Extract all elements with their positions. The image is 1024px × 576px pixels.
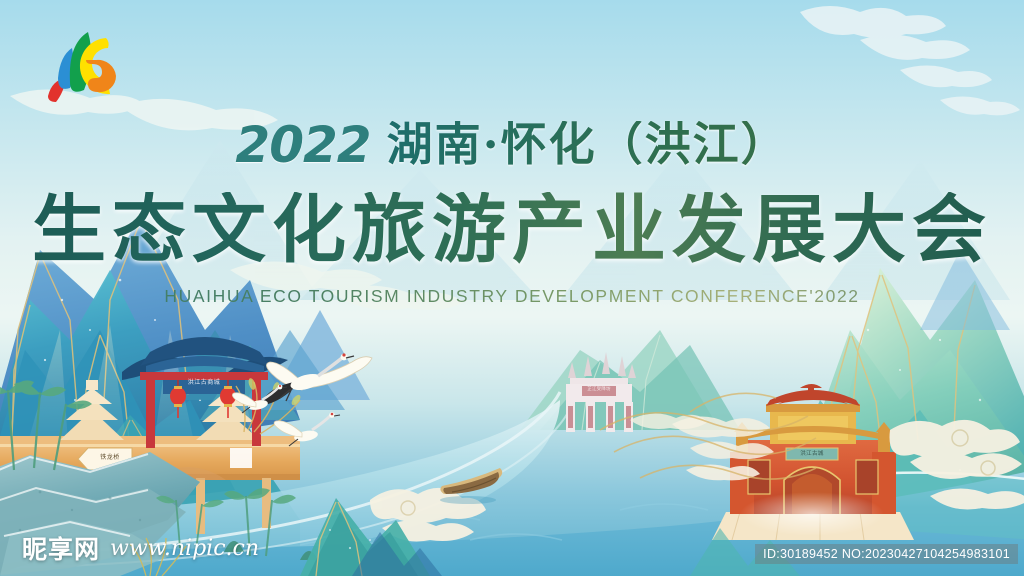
title-block: 2022 湖南·怀化（洪江） 生态文化旅游产业发展大会 HUAIHUA ECO …	[0, 118, 1024, 307]
gate-plaque-text: 洪江古商城	[167, 377, 241, 386]
watermark-site-name: 昵享网	[22, 530, 100, 566]
image-id-badge: ID:30189452 NO:20230427104254983101	[755, 544, 1018, 564]
conference-poster: 2022 湖南·怀化（洪江） 生态文化旅游产业发展大会 HUAIHUA ECO …	[0, 0, 1024, 576]
locale-label: 湖南·怀化（洪江）	[387, 121, 789, 167]
watermark: 昵享网 www.nipic.cn	[22, 530, 259, 566]
archway-plaque-text: 芷江受降坊	[582, 386, 616, 392]
subtitle-english: HUAIHUA ECO TOURISM INDUSTRY DEVELOPMENT…	[0, 286, 1024, 307]
huaihua-tourism-logo	[44, 26, 140, 106]
page-title: 生态文化旅游产业发展大会	[0, 192, 1024, 270]
year-label: 2022	[235, 120, 370, 170]
header-line: 2022 湖南·怀化（洪江）	[0, 118, 1024, 178]
temple-plaque-text: 洪江古城	[786, 449, 838, 457]
watermark-site-url: www.nipic.cn	[110, 536, 259, 561]
bridge-plaque-text: 铁龙桥	[90, 452, 130, 461]
